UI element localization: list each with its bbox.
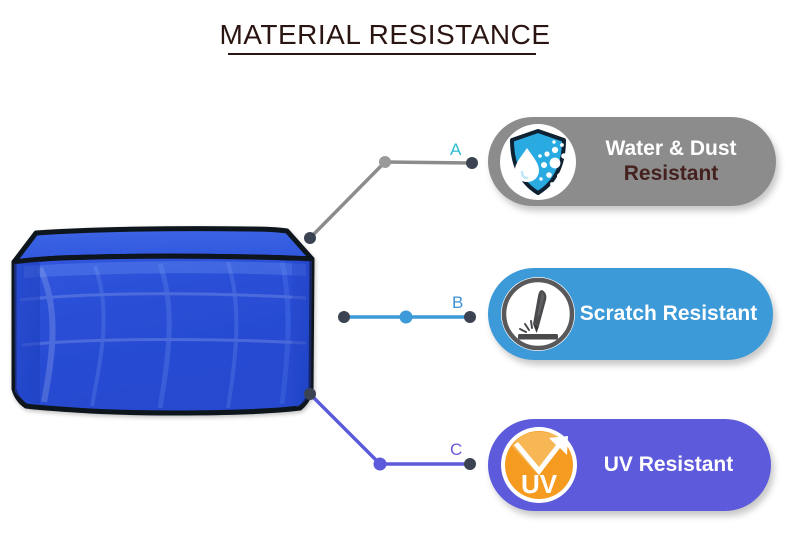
badge-uv-text: UV Resistant xyxy=(580,453,771,477)
connector-label-b: B xyxy=(452,293,463,313)
badge-water-dust-resistant[interactable]: Water & Dust Resistant xyxy=(488,117,776,206)
badge-uv-line1: UV Resistant xyxy=(604,453,734,477)
infographic-canvas: MATERIAL RESISTANCE xyxy=(0,0,800,546)
connector-a-mid-node xyxy=(379,156,391,168)
connector-b-end-dot xyxy=(464,311,476,323)
badge-water-line1: Water & Dust xyxy=(605,137,736,161)
uv-icon-text: UV xyxy=(521,469,558,499)
connector-label-c: C xyxy=(450,440,462,460)
connector-b-mid-node xyxy=(400,311,413,324)
shield-water-dust-icon xyxy=(496,120,580,204)
badge-scratch-text: Scratch Resistant xyxy=(578,302,773,326)
badge-water-line2: Resistant xyxy=(624,162,719,186)
badge-scratch-resistant[interactable]: Scratch Resistant xyxy=(488,268,773,360)
connector-c-end-dot xyxy=(464,458,476,470)
badge-water-dust-text: Water & Dust Resistant xyxy=(580,137,776,186)
connector-b-start-dot xyxy=(338,311,350,323)
scratch-stylus-icon xyxy=(498,274,578,354)
connector-label-a: A xyxy=(450,140,461,160)
connector-a-start-dot xyxy=(304,232,316,244)
connector-c-start-dot xyxy=(304,388,316,400)
badge-uv-resistant[interactable]: UV UV Resistant xyxy=(488,419,771,511)
badge-scratch-line1: Scratch Resistant xyxy=(580,302,757,326)
connector-a xyxy=(304,156,478,244)
uv-sun-arrow-icon: UV xyxy=(498,424,580,506)
connector-a-end-dot xyxy=(466,157,478,169)
connector-c-mid-node xyxy=(374,458,387,471)
